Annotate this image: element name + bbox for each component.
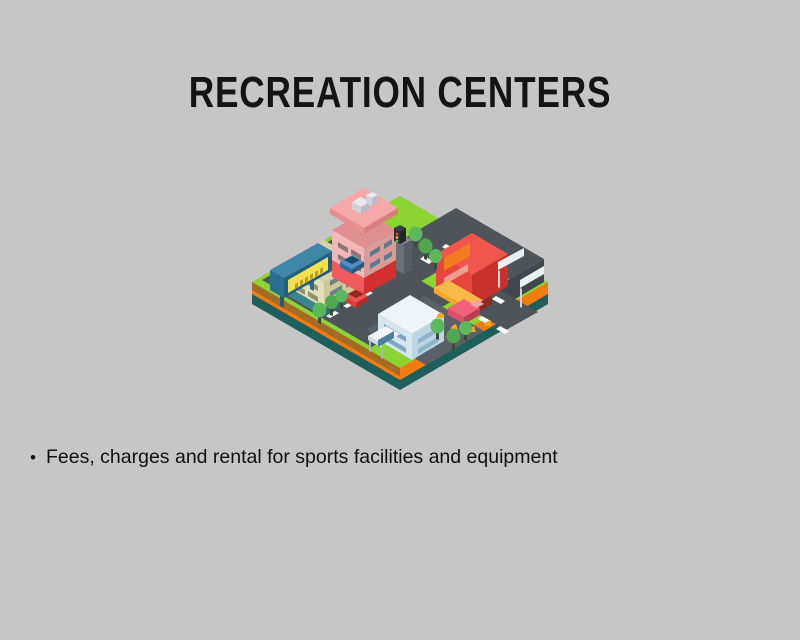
bullet-item-text: Fees, charges and rental for sports faci… [46,444,730,470]
city-scene-svg [248,132,552,394]
isometric-city-illustration [248,132,552,394]
pink-tower-building [330,188,398,295]
bullet-list: • Fees, charges and rental for sports fa… [30,444,730,471]
list-item: • Fees, charges and rental for sports fa… [30,444,730,471]
bullet-marker-icon: • [30,445,46,471]
page-title: RECREATION CENTERS [80,68,720,118]
slide-canvas: RECREATION CENTERS [0,0,800,640]
